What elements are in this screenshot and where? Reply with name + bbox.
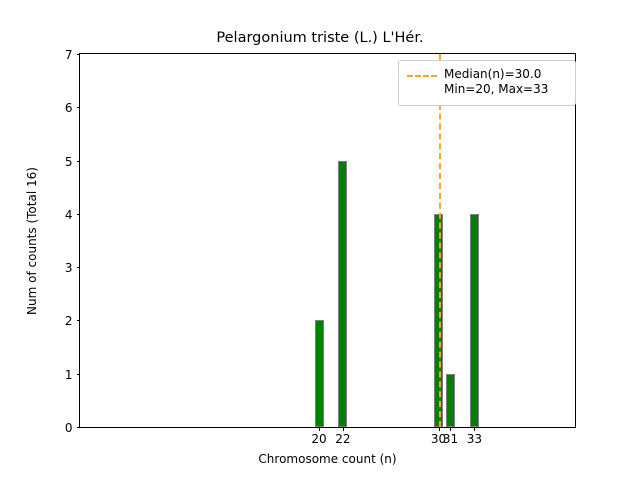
legend-entry-median: Median(n)=30.0 Min=20, Max=33 (407, 67, 567, 98)
plot-area: 012345672022303133 (79, 53, 576, 428)
y-axis-tick: 1 (77, 374, 81, 375)
y-axis-label: Num of counts (Total 16) (25, 167, 39, 315)
legend-entry-labels: Median(n)=30.0 Min=20, Max=33 (444, 67, 548, 98)
x-axis-tick-label: 31 (443, 432, 458, 446)
y-axis-tick-label: 0 (65, 421, 73, 435)
y-axis-tick: 0 (77, 427, 81, 428)
bar (470, 214, 479, 427)
x-axis-tick (439, 427, 440, 431)
x-axis-tick-label: 22 (335, 432, 350, 446)
y-axis-tick: 6 (77, 107, 81, 108)
x-axis-tick (450, 427, 451, 431)
y-axis-tick-label: 4 (65, 208, 73, 222)
y-axis-tick: 7 (77, 54, 81, 55)
bar (315, 320, 324, 427)
y-axis-tick-label: 1 (65, 368, 73, 382)
x-axis-tick-label: 20 (311, 432, 326, 446)
y-axis-tick: 3 (77, 267, 81, 268)
bar (446, 374, 455, 427)
median-line (439, 54, 441, 427)
x-axis-tick (343, 427, 344, 431)
x-axis-tick (474, 427, 475, 431)
y-axis-tick-label: 6 (65, 101, 73, 115)
bar (338, 161, 347, 427)
y-axis-tick: 4 (77, 214, 81, 215)
x-axis-tick-label: 33 (467, 432, 482, 446)
y-axis-tick-label: 3 (65, 261, 73, 275)
y-axis-tick: 2 (77, 320, 81, 321)
y-axis-tick: 5 (77, 161, 81, 162)
plot-inner: 012345672022303133 (80, 54, 575, 427)
y-axis-label-container: Num of counts (Total 16) (22, 53, 42, 428)
y-axis-tick-label: 2 (65, 314, 73, 328)
chart-figure: Pelargonium triste (L.) L'Hér. Num of co… (0, 0, 640, 480)
chart-title: Pelargonium triste (L.) L'Hér. (0, 30, 640, 46)
legend-label-minmax: Min=20, Max=33 (444, 82, 548, 97)
y-axis-tick-label: 5 (65, 155, 73, 169)
x-axis-tick (319, 427, 320, 431)
legend-label-median: Median(n)=30.0 (444, 67, 548, 82)
x-axis-label: Chromosome count (n) (79, 452, 576, 466)
y-axis-tick-label: 7 (65, 48, 73, 62)
chart-legend: Median(n)=30.0 Min=20, Max=33 (398, 60, 576, 106)
dashed-line-icon (407, 69, 437, 83)
